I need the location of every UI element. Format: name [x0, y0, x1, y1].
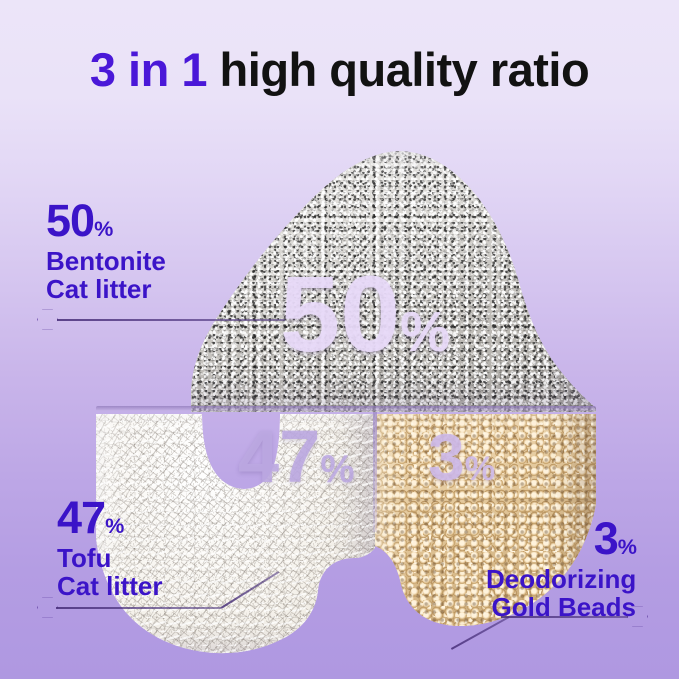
- leader-line-tofu-horizontal: [56, 607, 221, 609]
- callout-tofu-percent-value: 47: [57, 492, 105, 543]
- callout-bentonite-percent-symbol: %: [94, 216, 112, 241]
- callout-gold-beads-percent-symbol: %: [618, 534, 636, 559]
- page-title: 3 in 1 high quality ratio: [0, 46, 679, 93]
- callout-gold-beads-label: Deodorizing Gold Beads: [486, 565, 636, 621]
- callout-bentonite-label: Bentonite Cat litter: [46, 247, 166, 303]
- callout-bentonite-percent: 50%: [46, 198, 166, 243]
- title-plain: high quality ratio: [220, 43, 590, 96]
- leader-line-gold-beads-horizontal: [501, 616, 628, 618]
- infographic-canvas: 3 in 1 high quality ratio 50% 47% 3% 50%…: [0, 0, 679, 679]
- leader-line-bentonite: [57, 319, 285, 321]
- callout-gold-beads-percent-value: 3: [594, 513, 618, 564]
- vertical-material-divider: [373, 412, 377, 532]
- callout-bentonite: 50% Bentonite Cat litter: [46, 198, 166, 303]
- callout-bentonite-percent-value: 50: [46, 195, 94, 246]
- callout-gold-beads: 3% Deodorizing Gold Beads: [486, 516, 636, 621]
- callout-tofu: 47% Tofu Cat litter: [57, 495, 162, 600]
- hexagon-marker-bentonite-icon: [37, 309, 58, 330]
- title-accent: 3 in 1: [90, 43, 207, 96]
- callout-tofu-percent: 47%: [57, 495, 162, 540]
- callout-tofu-label: Tofu Cat litter: [57, 544, 162, 600]
- hexagon-marker-tofu-icon: [37, 597, 58, 618]
- layer-seam-divider: [96, 406, 596, 411]
- callout-gold-beads-percent: 3%: [486, 516, 636, 561]
- bentonite-granule-mound: [96, 150, 596, 412]
- callout-tofu-percent-symbol: %: [105, 513, 123, 538]
